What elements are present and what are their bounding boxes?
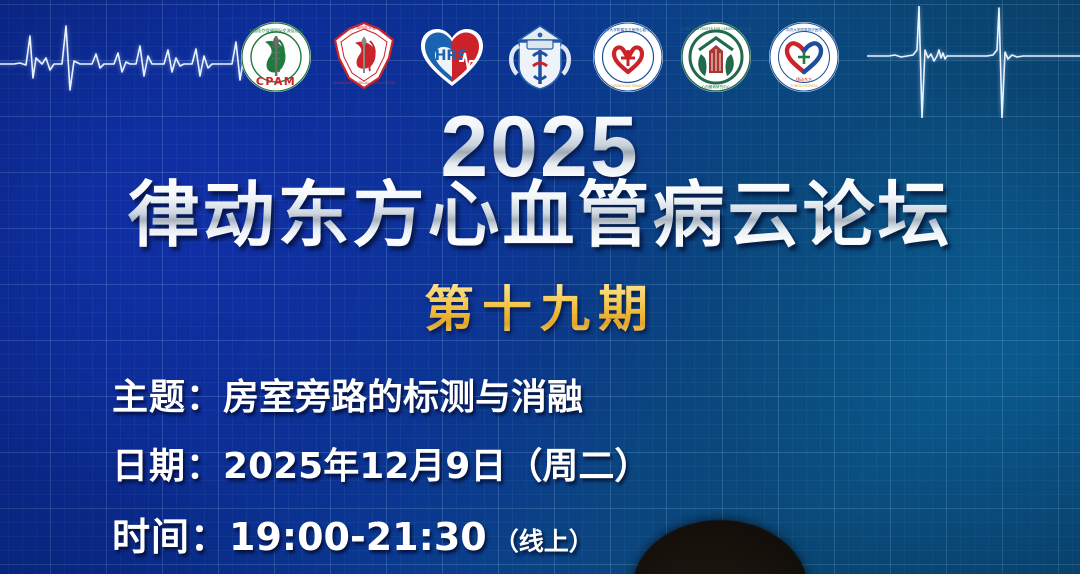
svg-text:律动东方: 律动东方: [796, 76, 812, 82]
time-note: （线上）: [494, 522, 594, 558]
date-label: 日期：: [112, 437, 223, 489]
svg-text:CARDIOLOGY BRANCH: CARDIOLOGY BRANCH: [610, 84, 647, 88]
poster-main-title: 律动东方心血管病云论坛: [0, 178, 1080, 254]
hrs-logo: HRS: [415, 20, 489, 94]
cpam-logo: CPAM 中国医疗保健国际交流促进会: [239, 20, 313, 94]
poster-issue-number: 第十九期: [0, 284, 1080, 334]
svg-text:心血管病研究中心: 心血管病研究中心: [702, 84, 731, 89]
time-label: 时间：: [112, 506, 229, 561]
organizer-logo-row: CPAM 中国医疗保健国际交流促进会 上海市医学会 SHANGHAI MEDIC…: [0, 12, 1080, 102]
info-time-line: 时间： 19:00-21:30 （线上）: [112, 506, 594, 561]
svg-text:CHINA RAD CENTER FOR CARDIOVAS: CHINA RAD CENTER FOR CARDIOVASCULAR: [681, 27, 751, 31]
cardiovascular-research-logo: CHINA RAD CENTER FOR CARDIOVASCULAR 心血管病…: [679, 20, 753, 94]
svg-text:SHANGHAI MEDICAL ASSOCIATION: SHANGHAI MEDICAL ASSOCIATION: [333, 81, 395, 85]
conference-poster: CPAM 中国医疗保健国际交流促进会 上海市医学会 SHANGHAI MEDIC…: [0, 0, 1080, 574]
topic-value: 房室旁路的标测与消融: [223, 368, 583, 420]
shield-crest-logo: [503, 20, 577, 94]
info-date-row: 日期： 2025年12月9日（周二）: [112, 437, 650, 489]
svg-text:CPAM: CPAM: [256, 75, 296, 88]
info-topic-line: 主题： 房室旁路的标测与消融: [112, 368, 583, 420]
date-value: 2025年12月9日（周二）: [223, 437, 650, 489]
info-date-line: 日期： 2025年12月9日（周二）: [112, 437, 650, 489]
shanghai-medical-association-logo: 上海市医学会 SHANGHAI MEDICAL ASSOCIATION: [327, 20, 401, 94]
info-topic-row: 主题： 房室旁路的标测与消融: [112, 368, 583, 420]
topic-label: 主题：: [112, 368, 223, 420]
speaker-head-silhouette: [632, 520, 808, 574]
cardiology-branch-logo: 同济大学附属东方医院心脏学会 CARDIOLOGY BRANCH: [591, 20, 665, 94]
svg-text:TONGJI HOSPITAL: TONGJI HOSPITAL: [790, 84, 818, 88]
info-time-row: 时间： 19:00-21:30 （线上）: [112, 506, 594, 561]
hospital-heart-logo: 同济大学附属同济医院 律动东方 TONGJI HOSPITAL: [767, 20, 841, 94]
svg-text:同济大学附属东方医院心脏学会: 同济大学附属东方医院心脏学会: [602, 27, 654, 32]
svg-text:同济大学附属同济医院: 同济大学附属同济医院: [786, 27, 822, 32]
svg-text:上海市医学会: 上海市医学会: [352, 24, 376, 30]
time-value: 19:00-21:30: [229, 515, 487, 559]
svg-text:中国医疗保健国际交流促进会: 中国医疗保健国际交流促进会: [249, 27, 304, 34]
